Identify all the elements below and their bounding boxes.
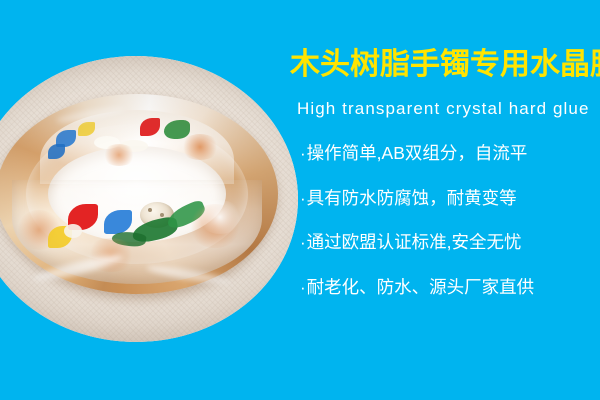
feature-item: · 具有防水防腐蚀，耐黄变等 [300, 190, 600, 208]
feature-text: 耐老化、防水、源头厂家直供 [307, 279, 535, 297]
product-banner: 木头树脂手镯专用水晶胶 High transparent crystal har… [0, 0, 600, 400]
bullet-dot-icon: · [300, 190, 306, 207]
bullet-dot-icon: · [300, 234, 306, 251]
photo-vignette [0, 56, 298, 342]
feature-item: · 耐老化、防水、源头厂家直供 [300, 279, 600, 297]
bullet-dot-icon: · [300, 145, 306, 162]
feature-item: · 操作简单,AB双组分，自流平 [300, 145, 600, 163]
headline-english: High transparent crystal hard glue [297, 99, 590, 119]
product-photo [0, 56, 298, 342]
feature-text: 具有防水防腐蚀，耐黄变等 [307, 190, 517, 208]
bullet-dot-icon: · [300, 279, 306, 296]
headline-chinese: 木头树脂手镯专用水晶胶 [290, 50, 600, 80]
feature-list: · 操作简单,AB双组分，自流平 · 具有防水防腐蚀，耐黄变等 · 通过欧盟认证… [300, 145, 600, 323]
feature-text: 通过欧盟认证标准,安全无忧 [307, 234, 522, 252]
text-column: 木头树脂手镯专用水晶胶 High transparent crystal har… [290, 0, 600, 400]
feature-text: 操作简单,AB双组分，自流平 [307, 145, 528, 163]
feature-item: · 通过欧盟认证标准,安全无忧 [300, 234, 600, 252]
